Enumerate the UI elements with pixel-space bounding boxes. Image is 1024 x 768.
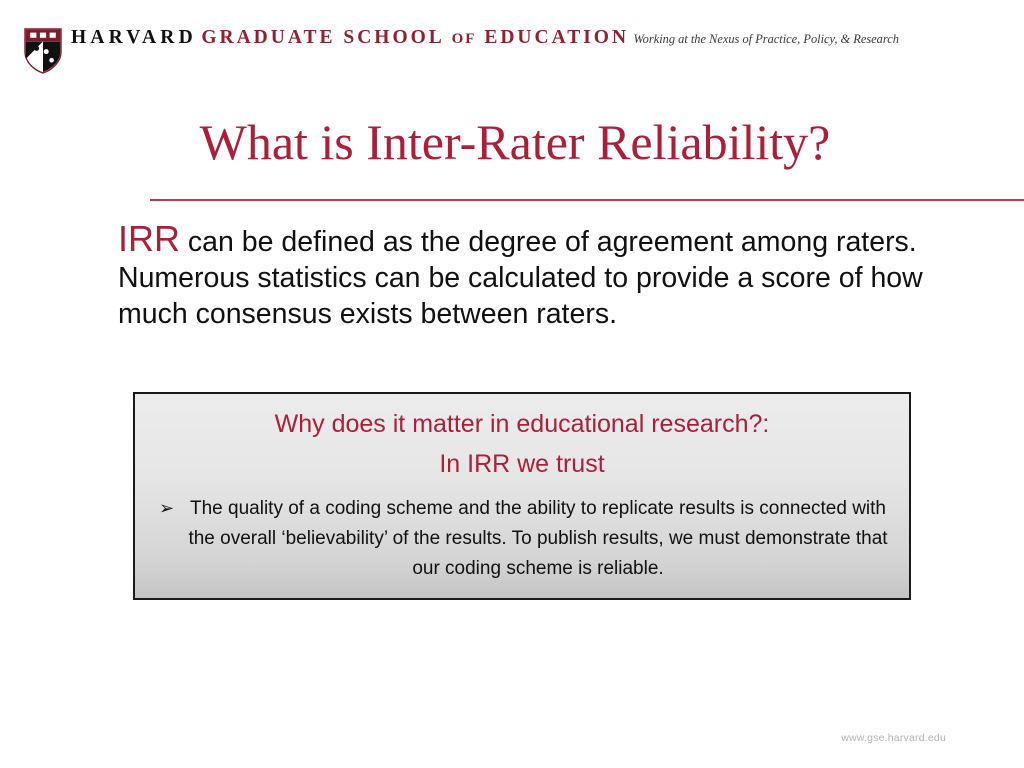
wordmark-graduate-school-of-education: GRADUATE SCHOOL OF EDUCATION	[201, 27, 629, 48]
callout-subheading: In IRR we trust	[149, 446, 895, 482]
page-title: What is Inter-Rater Reliability?	[60, 112, 970, 172]
logo-tagline: Working at the Nexus of Practice, Policy…	[634, 32, 900, 46]
callout-heading: Why does it matter in educational resear…	[149, 406, 895, 442]
callout-box: Why does it matter in educational resear…	[133, 392, 911, 600]
list-item: ➢ The quality of a coding scheme and the…	[149, 494, 895, 584]
footer-url: www.gse.harvard.edu	[841, 732, 946, 744]
title-divider	[150, 199, 1024, 201]
wordmark-harvard: HARVARD	[71, 27, 197, 48]
body-paragraph-text: can be defined as the degree of agreemen…	[118, 226, 923, 330]
callout-bullet-text: The quality of a coding scheme and the a…	[187, 494, 889, 584]
wordmark-graduate-school: GRADUATE SCHOOL	[201, 27, 451, 48]
wordmark-of: OF	[452, 31, 477, 47]
wordmark-education: EDUCATION	[476, 27, 629, 48]
harvard-shield-icon	[24, 28, 62, 74]
body-paragraph: IRR can be defined as the degree of agre…	[118, 221, 963, 332]
harvard-gse-logo: HARVARD GRADUATE SCHOOL OF EDUCATION Wor…	[24, 27, 900, 74]
arrow-bullet-icon: ➢	[159, 494, 187, 524]
irr-lead-term: IRR	[118, 218, 180, 259]
harvard-gse-wordmark: HARVARD GRADUATE SCHOOL OF EDUCATION Wor…	[71, 27, 900, 50]
